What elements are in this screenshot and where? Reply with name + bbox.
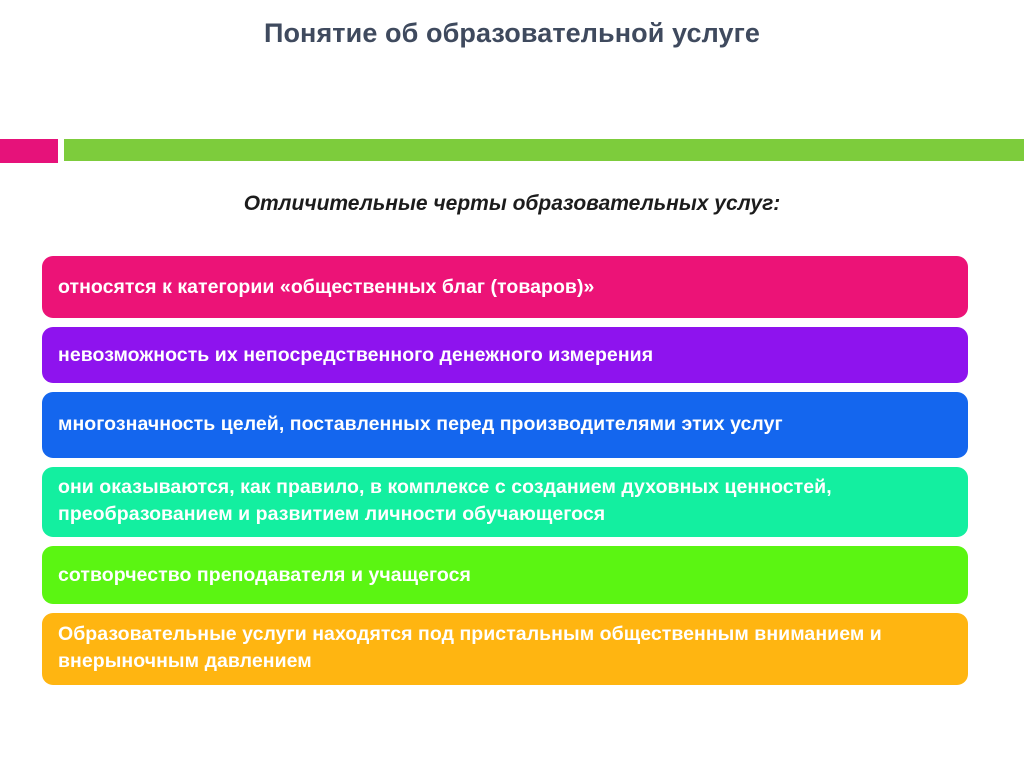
accent-bar — [0, 139, 1024, 163]
list-item: сотворчество преподавателя и учащегося — [42, 546, 968, 604]
list-item-label: многозначность целей, поставленных перед… — [58, 411, 783, 438]
page-title: Понятие об образовательной услуге — [0, 18, 1024, 49]
list-item: они оказываются, как правило, в комплекс… — [42, 467, 968, 537]
list-item: относятся к категории «общественных благ… — [42, 256, 968, 318]
list-item-label: они оказываются, как правило, в комплекс… — [58, 474, 952, 528]
list-item-label: относятся к категории «общественных благ… — [58, 274, 594, 301]
feature-bar-list: относятся к категории «общественных благ… — [42, 256, 968, 694]
accent-bar-pink-block — [0, 139, 58, 163]
list-item: многозначность целей, поставленных перед… — [42, 392, 968, 458]
list-item: невозможность их непосредственного денеж… — [42, 327, 968, 383]
section-subtitle: Отличительные черты образовательных услу… — [0, 192, 1024, 216]
list-item-label: невозможность их непосредственного денеж… — [58, 342, 653, 369]
slide: Понятие об образовательной услуге Отличи… — [0, 0, 1024, 767]
list-item-label: Образовательные услуги находятся под при… — [58, 621, 952, 675]
list-item: Образовательные услуги находятся под при… — [42, 613, 968, 685]
accent-bar-green-stripe — [64, 139, 1024, 161]
list-item-label: сотворчество преподавателя и учащегося — [58, 562, 471, 589]
